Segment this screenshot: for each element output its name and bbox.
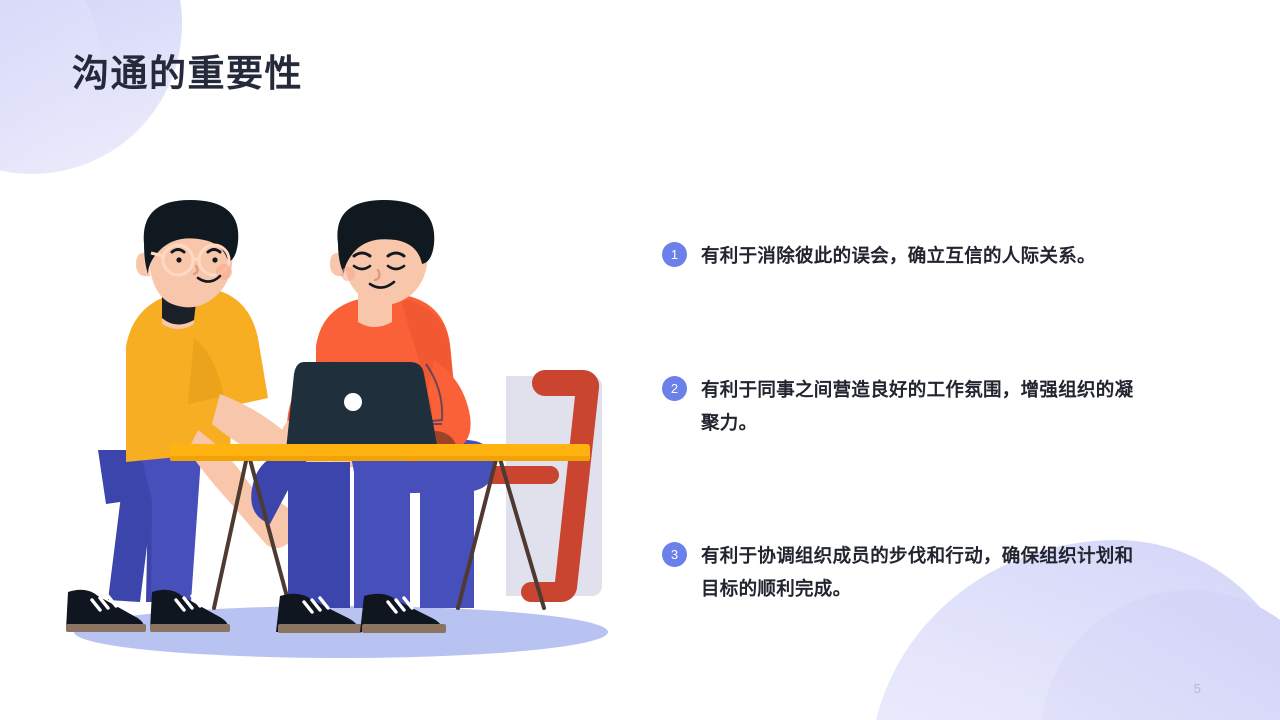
bullet-list: 1 有利于消除彼此的误会，确立互信的人际关系。 2 有利于同事之间营造良好的工作… (662, 240, 1142, 606)
slide: 沟通的重要性 (0, 0, 1280, 720)
bullet-badge-2: 2 (662, 376, 687, 401)
list-item: 1 有利于消除彼此的误会，确立互信的人际关系。 (662, 240, 1142, 273)
laptop (280, 362, 446, 458)
bullet-badge-3: 3 (662, 542, 687, 567)
page-number: 5 (1194, 681, 1201, 696)
list-item: 3 有利于协调组织成员的步伐和行动，确保组织计划和目标的顺利完成。 (662, 540, 1142, 606)
bullet-text-3: 有利于协调组织成员的步伐和行动，确保组织计划和目标的顺利完成。 (701, 540, 1142, 606)
bullet-text-2: 有利于同事之间营造良好的工作氛围，增强组织的凝聚力。 (701, 374, 1142, 440)
laptop-logo (344, 393, 362, 411)
illustration-two-colleagues-at-desk (48, 200, 648, 670)
list-item: 2 有利于同事之间营造良好的工作氛围，增强组织的凝聚力。 (662, 374, 1142, 440)
page-title: 沟通的重要性 (72, 52, 303, 96)
bullet-text-1: 有利于消除彼此的误会，确立互信的人际关系。 (701, 240, 1096, 273)
decorative-blob-bottom-right-secondary (1040, 590, 1280, 720)
bullet-badge-1: 1 (662, 242, 687, 267)
